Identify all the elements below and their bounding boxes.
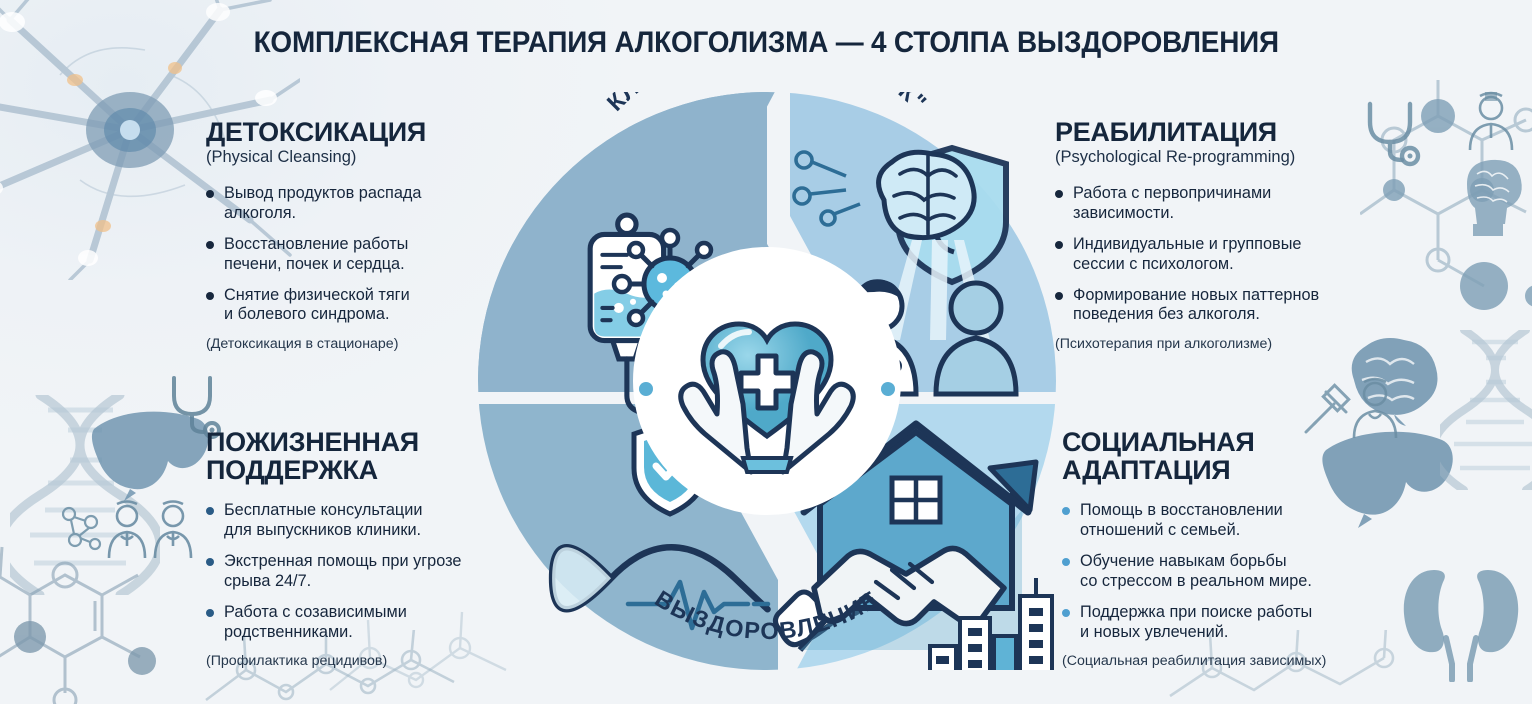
list-item: Индивидуальные и групповые сессии с псих… (1055, 235, 1385, 275)
list-item: Работа с первопричинами зависимости. (1055, 184, 1385, 224)
pillar-note-detox: (Детоксикация в стационаре) (206, 336, 484, 352)
pillar-heading-social: СОЦИАЛЬНАЯ АДАПТАЦИЯ (1062, 428, 1392, 484)
pillar-bullet-list-social: Помощь в восстановлении отношений с семь… (1062, 501, 1392, 642)
liver-icon (88, 405, 213, 505)
pillar-block-detox: ДЕТОКСИКАЦИЯ (Physical Cleansing) Вывод … (206, 118, 484, 352)
pillar-note-support: (Профилактика рецидивов) (206, 653, 528, 669)
list-item: Бесплатные консультации для выпускников … (206, 501, 528, 541)
emblem-dot-left (639, 382, 653, 396)
list-item: Обучение навыкам борьбы со стрессом в ре… (1062, 552, 1392, 592)
poster-title-bar: КОМПЛЕКСНАЯ ТЕРАПИЯ АЛКОГОЛИЗМА — 4 СТОЛ… (0, 26, 1532, 60)
pillar-bullet-list-support: Бесплатные консультации для выпускников … (206, 501, 528, 642)
pillar-note-social: (Социальная реабилитация зависимых) (1062, 653, 1392, 669)
pillar-block-rehab: РЕАБИЛИТАЦИЯ (Psychological Re-programmi… (1055, 118, 1385, 352)
dna-helix-icon (10, 395, 160, 595)
pillar-subtitle-detox: (Physical Cleansing) (206, 148, 484, 167)
molecule-structure-icon (55, 500, 105, 555)
doctor-avatar-icon (1456, 88, 1526, 154)
pillar-block-support: ПОЖИЗНЕННАЯ ПОДДЕРЖКА Бесплатные консуль… (206, 428, 528, 669)
infographic-poster: КОМПЛЕКСНАЯ ТЕРАПИЯ АЛКОГОЛИЗМА — 4 СТОЛ… (0, 0, 1532, 704)
dna-helix-icon (1440, 330, 1532, 490)
doctor-avatar-icon (93, 500, 208, 560)
molecule-structure-icon (0, 545, 190, 704)
pillar-heading-support: ПОЖИЗНЕННАЯ ПОДДЕРЖКА (206, 428, 528, 484)
list-item: Экстренная помощь при угрозе срыва 24/7. (206, 552, 528, 592)
four-pillar-wheel: КЛИНИКА "ЕВРО-КЛИНИК" ВЫЗДОРОВЛЕНИЕ (478, 92, 1056, 670)
list-item: Вывод продуктов распада алкоголя. (206, 184, 484, 224)
list-item: Снятие физической тяги и болевого синдро… (206, 286, 484, 326)
pillar-block-social: СОЦИАЛЬНАЯ АДАПТАЦИЯ Помощь в восстановл… (1062, 428, 1392, 669)
kidneys-icon (1390, 552, 1530, 682)
brain-icon (1447, 150, 1532, 240)
pillar-subtitle-rehab: (Psychological Re-programming) (1055, 148, 1385, 167)
emblem-dot-right (881, 382, 895, 396)
list-item: Восстановление работы печени, почек и се… (206, 235, 484, 275)
list-item: Помощь в восстановлении отношений с семь… (1062, 501, 1392, 541)
pillar-bullet-list-detox: Вывод продуктов распада алкоголя. Восста… (206, 184, 484, 325)
pillar-note-rehab: (Психотерапия при алкоголизме) (1055, 336, 1385, 352)
list-item: Формирование новых паттернов поведения б… (1055, 286, 1385, 326)
pillar-heading-detox: ДЕТОКСИКАЦИЯ (206, 118, 484, 146)
molecule-structure-icon (1360, 80, 1532, 340)
list-item: Поддержка при поиске работы и новых увле… (1062, 603, 1392, 643)
pillar-bullet-list-rehab: Работа с первопричинами зависимости. Инд… (1055, 184, 1385, 325)
pillar-heading-rehab: РЕАБИЛИТАЦИЯ (1055, 118, 1385, 146)
list-item: Работа с созависимыми родственниками. (206, 603, 528, 643)
page-title: КОМПЛЕКСНАЯ ТЕРАПИЯ АЛКОГОЛИЗМА — 4 СТОЛ… (253, 26, 1278, 60)
